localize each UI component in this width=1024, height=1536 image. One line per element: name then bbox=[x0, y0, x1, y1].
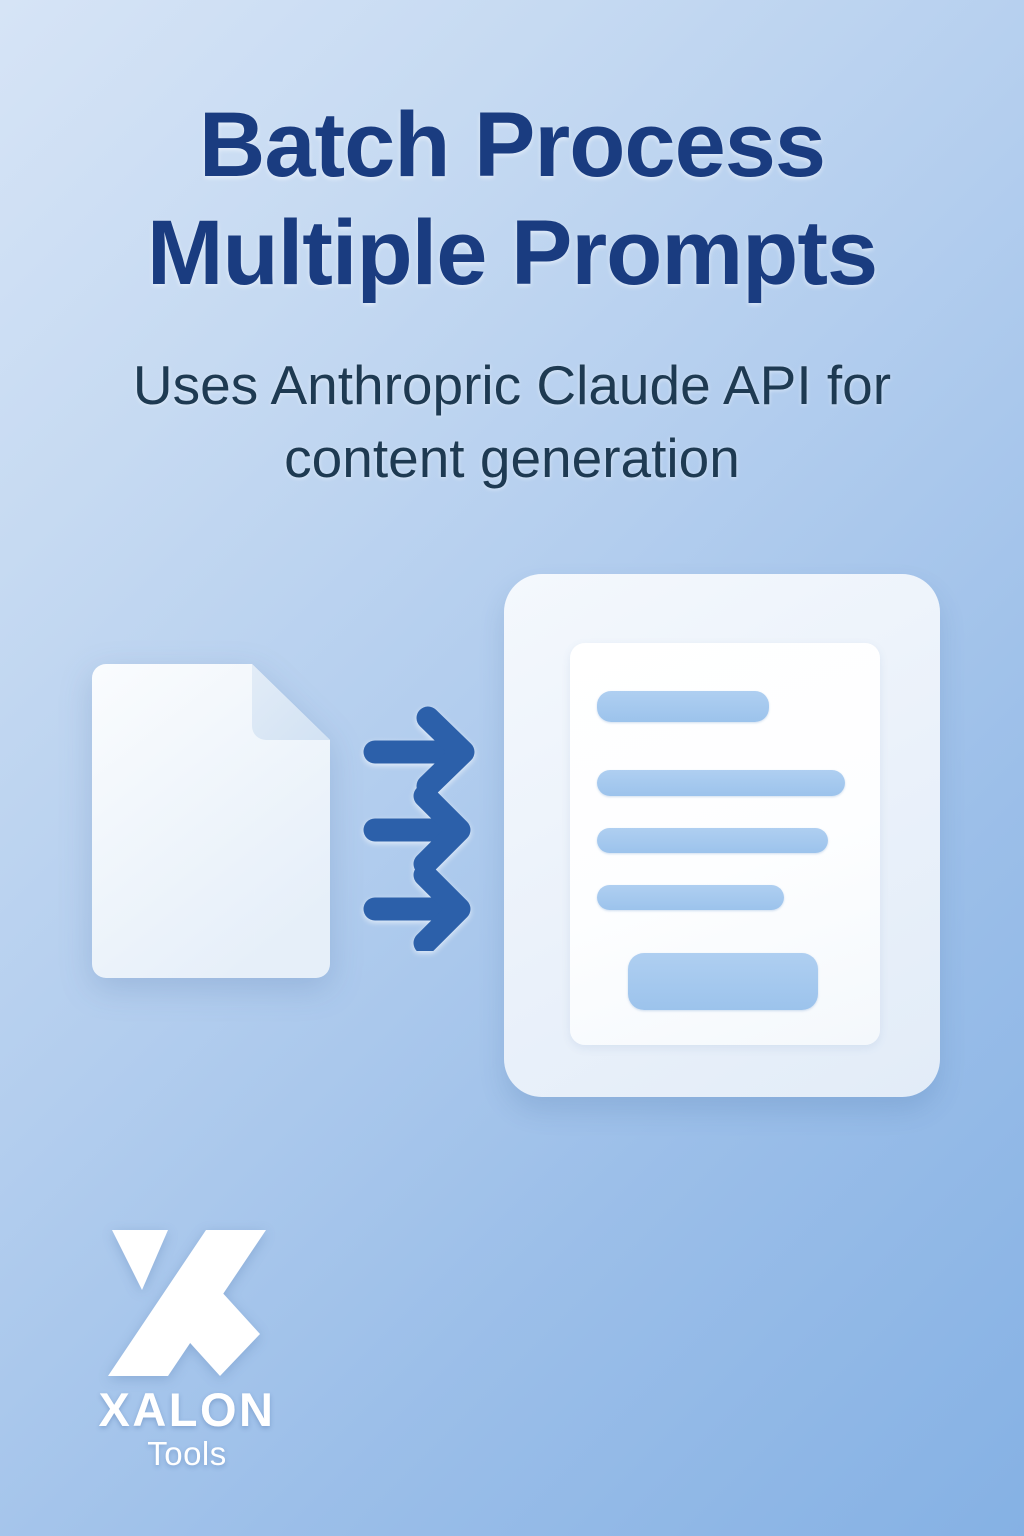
generated-document-page bbox=[570, 643, 880, 1045]
text-line-2 bbox=[597, 828, 828, 853]
page-title: Batch Process Multiple Prompts bbox=[0, 92, 1024, 307]
poster-canvas: Batch Process Multiple Prompts Uses Anth… bbox=[0, 0, 1024, 1536]
generated-document-card bbox=[504, 574, 940, 1097]
arrow-right-icon-2 bbox=[375, 796, 459, 864]
summary-block bbox=[628, 953, 818, 1010]
arrow-right-icon-1 bbox=[375, 718, 463, 786]
title-line-2: Multiple Prompts bbox=[40, 200, 984, 308]
logo-upper-wedge bbox=[112, 1230, 168, 1290]
file-document-icon bbox=[92, 664, 330, 978]
subtitle-line-2: content generation bbox=[70, 422, 954, 495]
brand-block: XALON Tools bbox=[62, 1228, 312, 1473]
heading-bar bbox=[597, 691, 769, 722]
file-fold-corner bbox=[252, 664, 330, 740]
page-subtitle: Uses Anthropric Claude API for content g… bbox=[0, 349, 1024, 495]
brand-sub: Tools bbox=[62, 1435, 312, 1473]
text-line-3 bbox=[597, 885, 784, 910]
title-line-1: Batch Process bbox=[40, 92, 984, 200]
xalon-x-logo bbox=[102, 1228, 272, 1378]
arrow-right-icon-3 bbox=[375, 875, 459, 943]
subtitle-line-1: Uses Anthropric Claude API for bbox=[70, 349, 954, 422]
header-block: Batch Process Multiple Prompts Uses Anth… bbox=[0, 92, 1024, 496]
arrow-right-icon-group bbox=[362, 705, 480, 951]
text-line-1 bbox=[597, 770, 845, 796]
brand-name: XALON bbox=[62, 1382, 312, 1437]
